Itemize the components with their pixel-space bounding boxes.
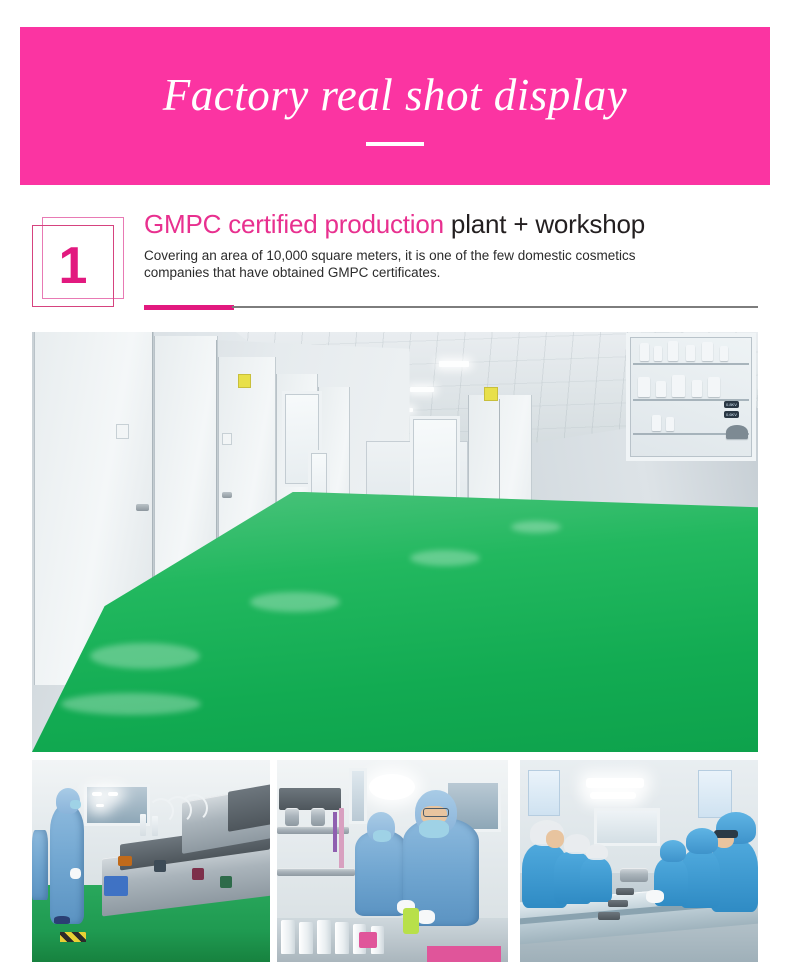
ceiling-light (92, 792, 102, 796)
wall-poster (528, 770, 560, 816)
product-bottle (299, 922, 313, 954)
glass-display-cabinet: 0.8KV 0.6KV (626, 333, 756, 461)
filling-machine-head (279, 788, 341, 810)
machine-shelf (277, 868, 355, 876)
section-heading-accent: GMPC certified production (144, 209, 444, 239)
machine-part (192, 868, 204, 880)
worker-shoe (54, 916, 70, 924)
worker-glasses (714, 830, 738, 838)
ceiling-lamp (439, 361, 469, 367)
divider-line (232, 306, 758, 308)
worker-cap (686, 828, 718, 854)
product-bottle (281, 920, 295, 954)
cabinet-product (652, 415, 661, 431)
door-handle (136, 504, 149, 511)
worker-face (546, 830, 564, 848)
product-bottle-green (403, 908, 419, 934)
pink-item (359, 932, 377, 948)
cabinet-product (668, 341, 678, 361)
cleanroom-worker (50, 804, 84, 924)
machine-tube (140, 814, 146, 836)
section-text-block: GMPC certified production plant + worksh… (144, 207, 758, 281)
cleanroom-worker (32, 830, 48, 900)
ceiling-light (108, 792, 118, 796)
cabinet-product (708, 377, 720, 397)
worker-mask (70, 800, 81, 809)
section-number-badge: 1 (32, 217, 128, 313)
worker-glove (646, 890, 664, 903)
thumbnail-photo-2 (277, 760, 508, 962)
worker-hairnet (586, 844, 608, 860)
pink-tray (427, 946, 501, 962)
filling-nozzle (311, 808, 325, 826)
warning-sign (484, 387, 498, 401)
warning-sign (238, 374, 251, 388)
product-bottle (317, 920, 331, 954)
filling-nozzle (285, 808, 299, 826)
section-heading-rest: plant + workshop (444, 209, 645, 239)
section-heading: GMPC certified production plant + worksh… (144, 207, 758, 241)
ceiling-light (96, 804, 104, 807)
line-worker (580, 858, 612, 902)
wall-panel (349, 768, 367, 824)
cabinet-product (686, 345, 695, 361)
machine-part (118, 856, 132, 866)
machine-part (220, 876, 232, 888)
wall-poster (698, 770, 732, 818)
corridor-scene: 0.8KV 0.6KV (32, 332, 758, 752)
bottle-filling-scene (277, 760, 508, 962)
wall-switch (222, 433, 232, 445)
product-bottle (335, 922, 349, 954)
cabinet-product (640, 343, 649, 361)
ceiling-light (590, 792, 636, 799)
thumbnail-photo-3 (520, 760, 758, 962)
machine-panel (228, 784, 270, 832)
thumbnail-photo-1 (32, 760, 270, 962)
cabinet-product (726, 425, 748, 439)
worker-mask (419, 820, 449, 838)
cabinet-product (638, 377, 650, 397)
section-number: 1 (32, 225, 114, 307)
assembly-fixture (620, 868, 648, 882)
ceiling-lamp (410, 387, 434, 392)
cabinet-product (656, 381, 666, 397)
worker-glasses (423, 808, 449, 817)
page-banner: Factory real shot display (20, 27, 770, 185)
machine-tube (339, 808, 344, 870)
machine-hose (180, 794, 208, 822)
machine-tube (333, 812, 337, 852)
cabinet-label-tag: 0.6KV (724, 411, 739, 418)
section-header: 1 GMPC certified production plant + work… (32, 207, 758, 319)
divider-accent-segment (144, 305, 234, 310)
cabinet-shelf (633, 363, 749, 365)
section-divider (144, 305, 758, 310)
page-title: Factory real shot display (163, 72, 628, 119)
interior-window (594, 808, 660, 846)
assembly-part (598, 912, 620, 920)
floor-reflection (511, 521, 561, 533)
wall-switch (116, 424, 129, 439)
cabinet-product (672, 375, 685, 397)
ceiling-light-glow (369, 774, 415, 800)
ceiling-light (586, 778, 644, 788)
door-handle (222, 492, 232, 498)
cabinet-product (702, 342, 713, 361)
production-line-scene (32, 760, 270, 962)
cabinet-product (666, 417, 674, 431)
assembly-part (616, 888, 634, 895)
cabinet-product (720, 346, 728, 361)
worker-mask (373, 830, 391, 842)
floor-reflection (90, 643, 200, 669)
worker-glove (417, 910, 435, 924)
cabinet-product (654, 346, 662, 361)
assembly-line-scene (520, 760, 758, 962)
machine-part (154, 860, 166, 872)
worker-glove (70, 868, 81, 879)
section-description: Covering an area of 10,000 square meters… (144, 247, 704, 281)
worker-cap (660, 840, 686, 862)
blue-bin (104, 876, 128, 896)
cabinet-label-tag: 0.8KV (724, 401, 739, 408)
assembly-part (608, 900, 628, 907)
main-facility-photo: 0.8KV 0.6KV (32, 332, 758, 752)
banner-underline-rule (366, 142, 424, 146)
floor-hazard-marking (60, 932, 86, 942)
cabinet-product (692, 380, 702, 397)
machine-tube (152, 816, 158, 836)
